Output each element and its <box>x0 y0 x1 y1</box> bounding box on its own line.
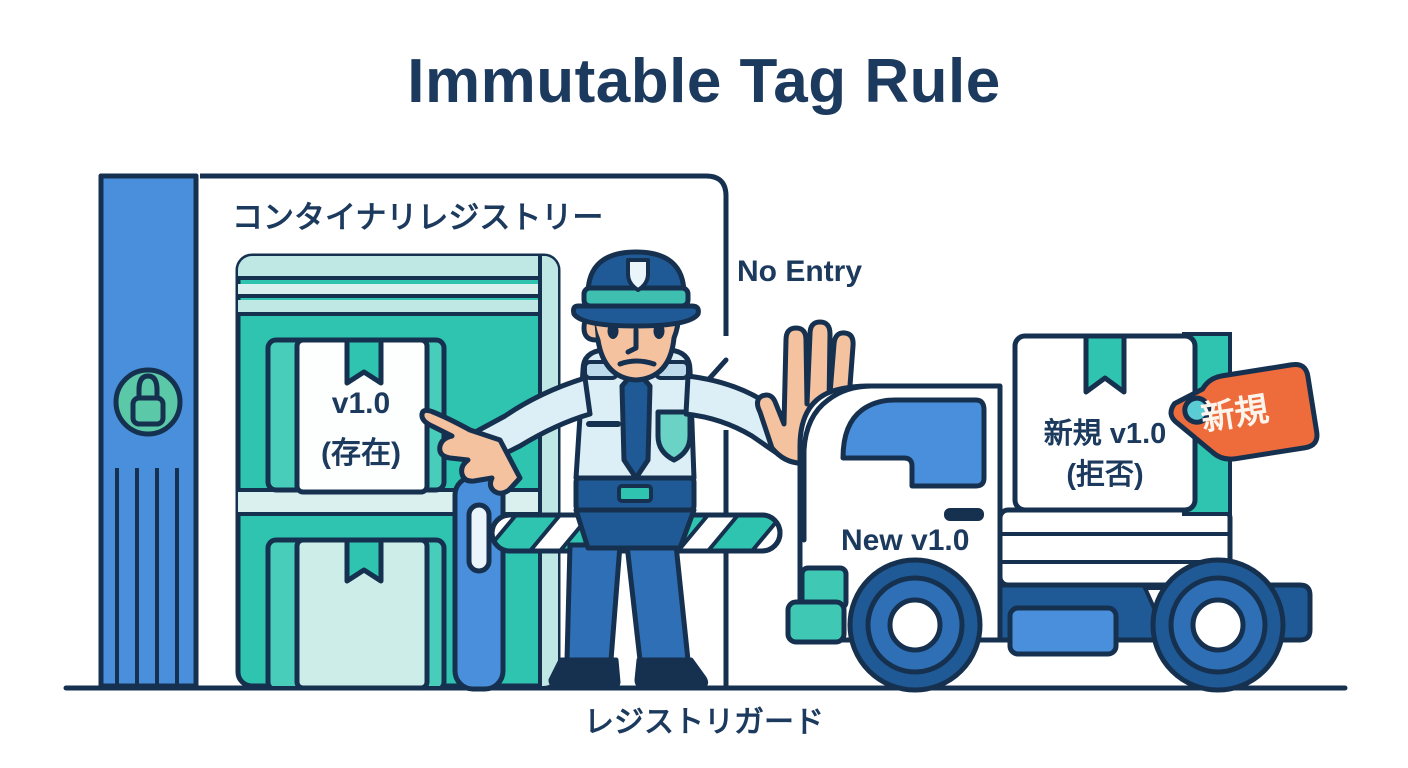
lock-icon <box>116 370 180 434</box>
box-v1-0 <box>297 340 427 492</box>
truck-wheel-rear <box>1153 560 1283 690</box>
cargo-box-new <box>1015 336 1195 510</box>
truck-wheel-front <box>850 560 980 690</box>
delivery-truck <box>788 334 1319 690</box>
shield-badge-icon <box>658 412 690 460</box>
illustration-canvas: Immutable Tag Rule コンタイナリレジストリー No Entry… <box>0 0 1408 768</box>
box-lower <box>297 540 427 688</box>
scene-vector-art <box>0 0 1408 768</box>
